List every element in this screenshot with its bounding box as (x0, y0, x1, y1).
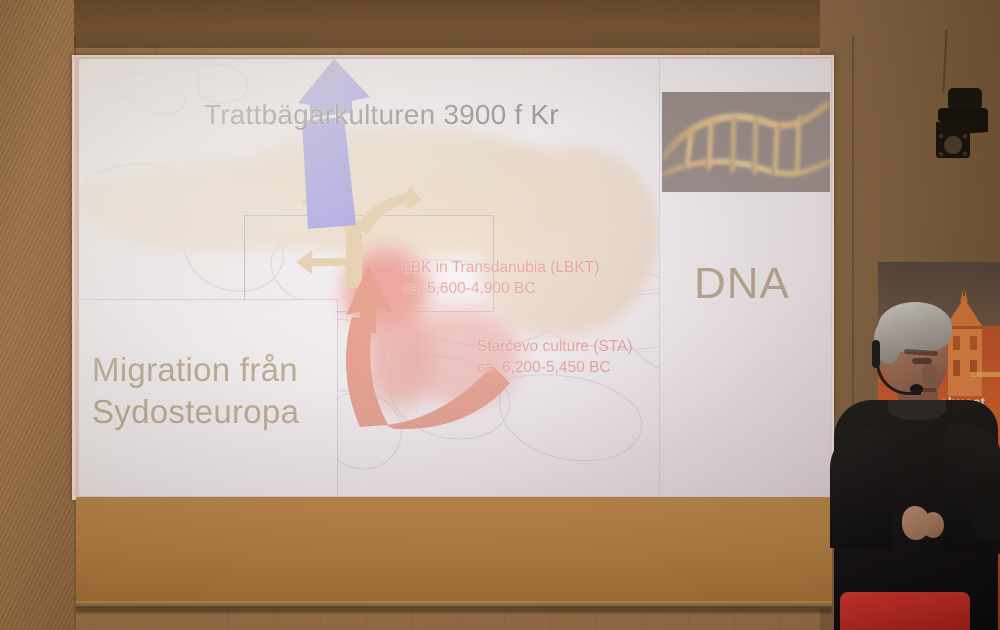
presenter-arm-right (974, 480, 1000, 540)
dna-helix-photo (662, 92, 830, 192)
screen-bottom-shadow (76, 607, 832, 613)
lecture-scene: chuset vitet & den (0, 0, 1000, 630)
dna-panel-divider (659, 59, 660, 496)
label-lbk-transdanubia: LBK in Transdanubia (LBKT) ca. 5,600-4,9… (402, 258, 599, 300)
label-starcevo-line1: Starčevo culture (STA) (477, 337, 633, 358)
blue-migration-arrow (290, 59, 382, 231)
caption-panel-top-edge (79, 299, 337, 300)
presenter-hand-right (922, 512, 944, 538)
presenter-shoulder-left (830, 428, 892, 548)
presenter (826, 300, 1000, 630)
label-lbk-line2: ca. 5,600-4,900 BC (402, 279, 599, 300)
red-chair (840, 592, 970, 630)
microphone-capsule-icon (910, 384, 923, 394)
label-lbk-line1: LBK in Transdanubia (LBKT) (402, 258, 599, 279)
presentation-slide: Trattbägarkulturen 3900 f Kr LBK in Tran… (79, 59, 831, 496)
slide-title: Trattbägarkulturen 3900 f Kr (204, 99, 559, 131)
dna-heading: DNA (694, 259, 790, 309)
label-starcevo-culture: Starčevo culture (STA) ca. 6,200-5,450 B… (477, 337, 633, 379)
caption-migration-line2: Sydosteuropa (92, 391, 299, 433)
caption-migration: Migration från Sydosteuropa (92, 349, 299, 433)
presenter-collar (888, 400, 946, 420)
caption-migration-line1: Migration från (92, 349, 299, 391)
projector-bracket (930, 88, 992, 168)
label-starcevo-line2: ca. 6,200-5,450 BC (477, 358, 633, 379)
screen-drape (76, 497, 832, 605)
wall-pillar-left (0, 0, 74, 630)
